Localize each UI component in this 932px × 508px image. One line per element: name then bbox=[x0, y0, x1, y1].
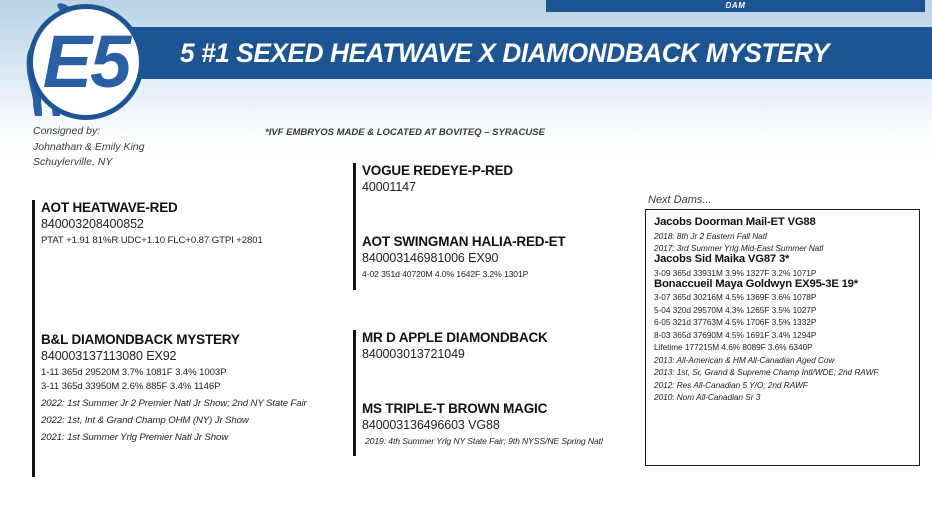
pedigree-bar bbox=[353, 163, 356, 290]
animal-name: MR D APPLE DIAMONDBACK bbox=[362, 330, 548, 345]
page-title: 5 #1 SEXED HEATWAVE X DIAMONDBACK MYSTER… bbox=[180, 29, 898, 77]
next-dams-label: Next Dams... bbox=[648, 194, 712, 206]
pedigree-group-sire: AOT HEATWAVE-RED 840003208400852 PTAT +1… bbox=[32, 200, 352, 350]
animal-stat: 3-07 365d 30216M 4.5% 1369F 3.6% 1078P bbox=[654, 292, 919, 302]
e5-logo-text: E5 bbox=[28, 4, 144, 120]
animal-award: 2010: Nom All-Canadian Sr 3 bbox=[654, 392, 919, 402]
animal-stat: Lifetime 177215M 4.6% 8089F 3.6% 6340P bbox=[654, 342, 919, 352]
animal-stat: 8-03 365d 37690M 4.5% 1691F 3.4% 1294P bbox=[654, 330, 919, 340]
animal-award: 2021: 1st Summer Yrlg Premier Natl Jr Sh… bbox=[41, 432, 307, 443]
pedigree-entry-dam-sire: MR D APPLE DIAMONDBACK 840003013721049 bbox=[362, 330, 548, 361]
animal-award: 2012: Res All-Canadian 5 Y/O; 2nd RAWF bbox=[654, 380, 919, 390]
animal-stat: 3-11 365d 33950M 2.6% 885F 3.4% 1146P bbox=[41, 381, 307, 392]
animal-id: 40001147 bbox=[362, 180, 513, 194]
pedigree-entry-dam: B&L DIAMONDBACK MYSTERY 840003137113080 … bbox=[41, 332, 307, 443]
animal-stat: 5-04 320d 29570M 4.3% 1265F 3.5% 1027P bbox=[654, 305, 919, 315]
animal-award: 2018: 8th Jr 2 Eastern Fall Natl bbox=[654, 231, 919, 241]
dam-banner: DAM bbox=[546, 0, 925, 12]
animal-name: Jacobs Sid Maika VG87 3* bbox=[654, 253, 919, 265]
animal-id: 840003136496603 VG88 bbox=[362, 418, 603, 432]
animal-id: 840003208400852 bbox=[41, 217, 263, 231]
next-dams-box: Jacobs Doorman Mail-ET VG88 2018: 8th Jr… bbox=[645, 209, 920, 466]
pedigree-entry-dam-dam: MS TRIPLE-T BROWN MAGIC 840003136496603 … bbox=[362, 401, 603, 446]
pedigree-group-dam: B&L DIAMONDBACK MYSTERY 840003137113080 … bbox=[32, 332, 362, 477]
animal-name: MS TRIPLE-T BROWN MAGIC bbox=[362, 401, 603, 416]
consigned-by-label: Consigned by: bbox=[33, 124, 144, 140]
pedigree-entry-sire-sire: VOGUE REDEYE-P-RED 40001147 bbox=[362, 163, 513, 194]
animal-name: AOT SWINGMAN HALIA-RED-ET bbox=[362, 234, 565, 249]
pedigree-bar bbox=[353, 330, 356, 456]
animal-stat: 6-05 321d 37763M 4.5% 1706F 3.5% 1332P bbox=[654, 317, 919, 327]
animal-award: 2013: 1st, Sr, Grand & Supreme Champ Int… bbox=[654, 367, 919, 377]
consignor-name: Johnathan & Emily King bbox=[33, 140, 144, 156]
sale-lot-page: DAM E5 5 #1 SEXED HEATWAVE X DIAMONDBACK… bbox=[0, 0, 932, 508]
next-dam-entry: Bonaccueil Maya Goldwyn EX95-3E 19* 3-07… bbox=[654, 278, 919, 403]
animal-id: 840003146981006 EX90 bbox=[362, 251, 565, 265]
animal-stat: 4-02 351d 40720M 4.0% 1642F 3.2% 1301P bbox=[362, 269, 565, 279]
pedigree-bar bbox=[32, 200, 35, 350]
animal-id: 840003137113080 EX92 bbox=[41, 349, 307, 363]
consignor-location: Schuylerville, NY bbox=[33, 155, 144, 171]
ivf-note: *IVF EMBRYOS MADE & LOCATED AT BOVITEQ –… bbox=[265, 127, 545, 138]
animal-name: Jacobs Doorman Mail-ET VG88 bbox=[654, 216, 919, 228]
animal-name: B&L DIAMONDBACK MYSTERY bbox=[41, 332, 307, 347]
pedigree-group-dam-parents: MR D APPLE DIAMONDBACK 840003013721049 M… bbox=[353, 330, 643, 456]
animal-name: VOGUE REDEYE-P-RED bbox=[362, 163, 513, 178]
animal-name: AOT HEATWAVE-RED bbox=[41, 200, 263, 215]
animal-name: Bonaccueil Maya Goldwyn EX95-3E 19* bbox=[654, 278, 919, 290]
pedigree-bar bbox=[32, 332, 35, 477]
animal-award: 2022: 1st, Int & Grand Champ OHM (NY) Jr… bbox=[41, 415, 307, 426]
next-dam-entry: Jacobs Sid Maika VG87 3* 3-09 365d 33931… bbox=[654, 253, 919, 278]
animal-award: 2013: All-American & HM All-Canadian Age… bbox=[654, 355, 919, 365]
animal-award: 2022: 1st Summer Jr 2 Premier Natl Jr Sh… bbox=[41, 398, 307, 409]
animal-stat: PTAT +1.91 81%R UDC+1.10 FLC+0.87 GTPI +… bbox=[41, 235, 263, 246]
animal-award: 2019: 4th Summer Yrlg NY State Fair; 9th… bbox=[365, 436, 603, 446]
pedigree-entry-sire: AOT HEATWAVE-RED 840003208400852 PTAT +1… bbox=[41, 200, 263, 246]
animal-id: 840003013721049 bbox=[362, 347, 548, 361]
next-dam-entry: Jacobs Doorman Mail-ET VG88 2018: 8th Jr… bbox=[654, 216, 919, 253]
animal-stat: 3-09 365d 33931M 3.9% 1327F 3.2% 1071P bbox=[654, 268, 919, 278]
consignor-block: Consigned by: Johnathan & Emily King Sch… bbox=[33, 124, 144, 171]
animal-award: 2017: 3rd Summer Yrlg Mid-East Summer Na… bbox=[654, 243, 919, 253]
pedigree-entry-sire-dam: AOT SWINGMAN HALIA-RED-ET 84000314698100… bbox=[362, 234, 565, 279]
pedigree-group-sire-parents: VOGUE REDEYE-P-RED 40001147 AOT SWINGMAN… bbox=[353, 163, 643, 290]
animal-stat: 1-11 365d 29520M 3.7% 1081F 3.4% 1003P bbox=[41, 367, 307, 378]
